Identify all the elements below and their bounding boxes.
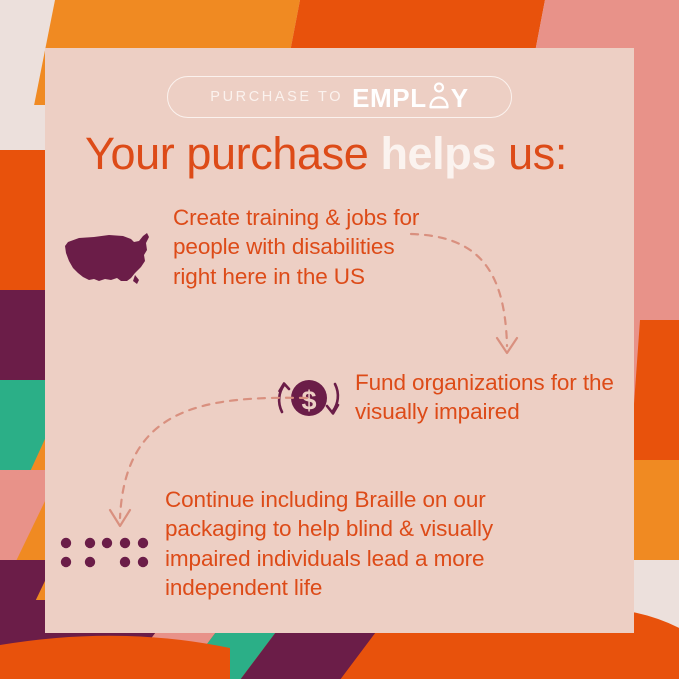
brand-prefix-text: PURCHASE TO xyxy=(210,89,343,105)
headline-emphasis: helps xyxy=(380,128,496,179)
dollar-coin-recycle-icon: $ xyxy=(273,370,345,426)
svg-text:$: $ xyxy=(301,386,316,416)
poster-canvas: PURCHASE TO EMPL Y Your purchase helps u xyxy=(0,0,679,679)
item-text-braille-packaging: Continue including Braille on our packag… xyxy=(165,485,565,602)
us-map-icon xyxy=(61,228,159,292)
headline-part-3: us: xyxy=(496,128,567,179)
headline-part-1: Your purchase xyxy=(85,128,380,179)
brand-word-part-2: Y xyxy=(451,83,469,114)
page-title: Your purchase helps us: xyxy=(85,130,605,178)
brand-wordmark: EMPL Y xyxy=(352,81,469,114)
braille-dots-icon xyxy=(57,533,157,573)
item-text-fund-organizations: Fund organizations for the visually impa… xyxy=(355,368,630,427)
person-icon xyxy=(428,81,450,107)
content-card: PURCHASE TO EMPL Y Your purchase helps u xyxy=(45,48,634,633)
item-text-training-jobs: Create training & jobs for people with d… xyxy=(173,203,423,291)
brand-badge: PURCHASE TO EMPL Y xyxy=(167,76,512,118)
dashed-curved-arrow-down-icon xyxy=(405,226,565,371)
brand-word-part-1: EMPL xyxy=(352,83,427,114)
